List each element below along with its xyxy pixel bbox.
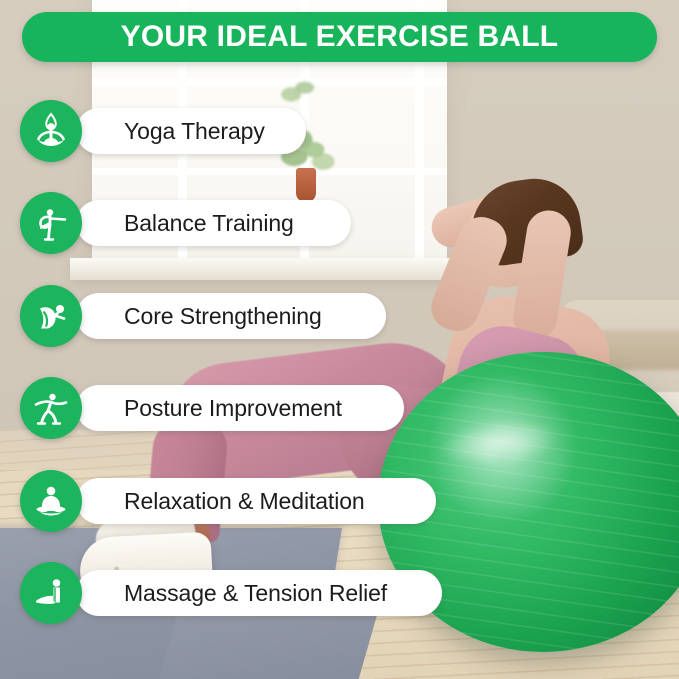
promo-graphic: YOUR IDEAL EXERCISE BALL Yoga Therapy (0, 0, 679, 679)
feature-label: Massage & Tension Relief (124, 580, 387, 607)
feature-pill[interactable]: Yoga Therapy (76, 108, 306, 154)
feature-label: Posture Improvement (124, 395, 342, 422)
meditation-lotus-icon (20, 470, 82, 532)
feature-label: Balance Training (124, 210, 294, 237)
posture-warrior-pose-icon (20, 377, 82, 439)
core-situp-icon (20, 285, 82, 347)
massage-table-icon (20, 562, 82, 624)
feature-pill[interactable]: Posture Improvement (76, 385, 404, 431)
feature-pill[interactable]: Massage & Tension Relief (76, 570, 442, 616)
feature-list: Yoga Therapy Balance Training (0, 0, 679, 679)
feature-pill[interactable]: Core Strengthening (76, 293, 386, 339)
feature-label: Yoga Therapy (124, 118, 265, 145)
balance-standing-pose-icon (20, 192, 82, 254)
yoga-lotus-arms-up-icon (20, 100, 82, 162)
feature-pill[interactable]: Balance Training (76, 200, 351, 246)
feature-label: Core Strengthening (124, 303, 322, 330)
feature-label: Relaxation & Meditation (124, 488, 365, 515)
feature-pill[interactable]: Relaxation & Meditation (76, 478, 436, 524)
